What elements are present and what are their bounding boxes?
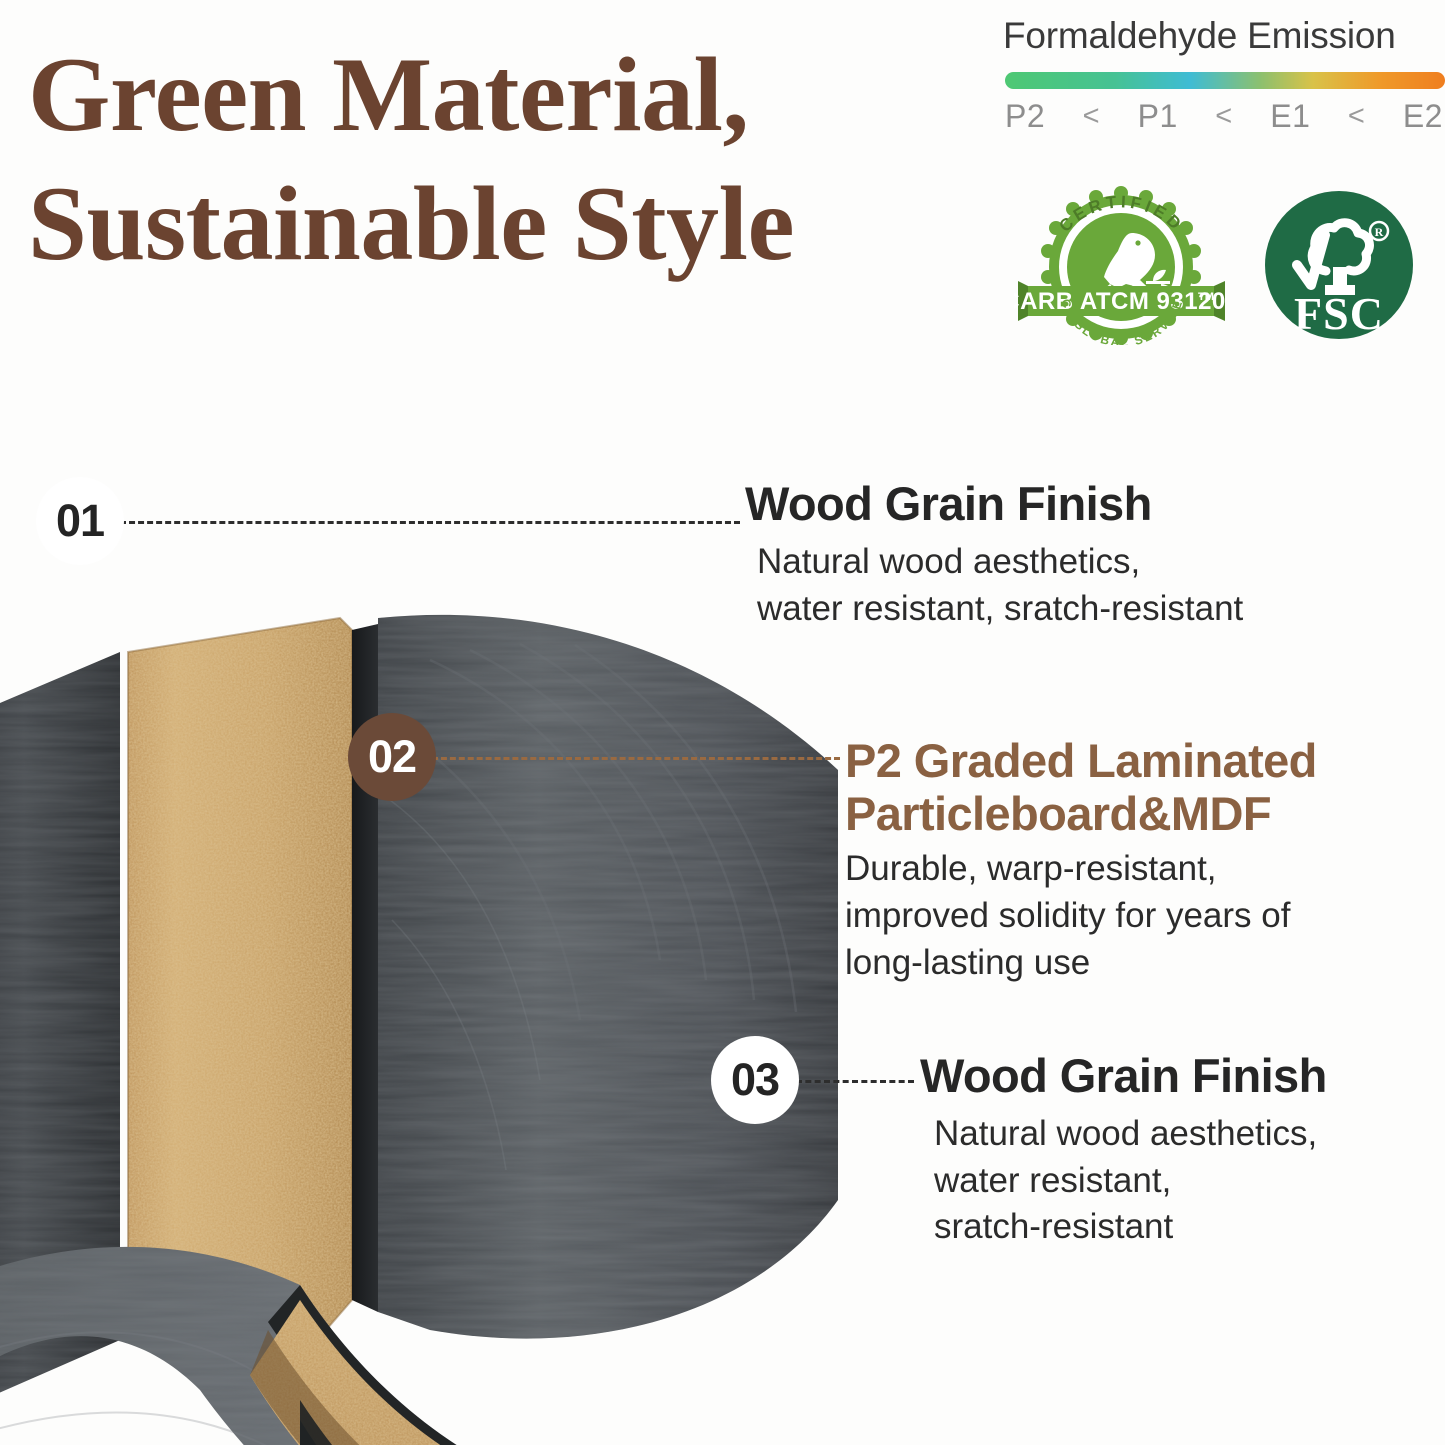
emission-title: Formaldehyde Emission	[993, 16, 1445, 57]
callout-03-body-line-2: water resistant,	[934, 1158, 1420, 1205]
callout-03: Wood Grain Finish Natural wood aesthetic…	[920, 1050, 1420, 1251]
formaldehyde-emission-panel: Formaldehyde Emission P2 < P1 < E1 < E2	[989, 16, 1445, 135]
callout-03-body: Natural wood aesthetics, water resistant…	[934, 1111, 1420, 1252]
fsc-registered-mark: R	[1375, 225, 1384, 239]
callout-02-body-line-1: Durable, warp-resistant,	[845, 846, 1425, 893]
callout-02-body-line-3: long-lasting use	[845, 940, 1425, 987]
callout-01-title: Wood Grain Finish	[745, 478, 1405, 531]
leader-line-02	[432, 757, 840, 760]
callout-badge-02: 02	[348, 713, 436, 801]
callout-02-body-line-2: improved solidity for years of	[845, 893, 1425, 940]
carb-certification-icon: CERTIFIED CARB A	[1014, 185, 1229, 345]
fsc-label: FSC	[1294, 288, 1384, 339]
carb-trademark-text: TM	[1198, 291, 1214, 303]
headline-line-1: Green Material,	[28, 30, 968, 159]
headline-line-2: Sustainable Style	[28, 159, 968, 288]
emission-separator-2: <	[1215, 100, 1232, 133]
fsc-certification-icon: R FSC	[1263, 189, 1415, 341]
product-cross-section-image	[0, 300, 840, 1445]
emission-separator-3: <	[1348, 100, 1365, 133]
callout-02-title: P2 Graded Laminated Particleboard&MDF	[845, 735, 1425, 840]
callout-badge-01: 01	[36, 477, 124, 565]
leader-line-01	[120, 521, 740, 524]
callout-03-title: Wood Grain Finish	[920, 1050, 1420, 1103]
infographic-page: Green Material, Sustainable Style Formal…	[0, 0, 1445, 1445]
callout-01-body-line-1: Natural wood aesthetics,	[757, 539, 1405, 586]
emission-scale: P2 < P1 < E1 < E2	[1005, 98, 1445, 135]
emission-separator-1: <	[1083, 100, 1100, 133]
callout-01-body: Natural wood aesthetics, water resistant…	[757, 539, 1405, 633]
callout-03-body-line-1: Natural wood aesthetics,	[934, 1111, 1420, 1158]
callout-03-body-line-3: sratch-resistant	[934, 1204, 1420, 1251]
callout-01-body-line-2: water resistant, sratch-resistant	[757, 586, 1405, 633]
emission-level-e1: E1	[1270, 98, 1310, 135]
certification-badges: CERTIFIED CARB A	[1015, 182, 1415, 347]
callout-badge-03: 03	[711, 1036, 799, 1124]
callout-02: P2 Graded Laminated Particleboard&MDF Du…	[845, 735, 1425, 987]
leader-line-03	[796, 1080, 914, 1083]
emission-gradient-bar	[1005, 72, 1445, 89]
callout-01: Wood Grain Finish Natural wood aesthetic…	[745, 478, 1405, 632]
emission-level-p2: P2	[1005, 98, 1045, 135]
emission-level-e2: E2	[1403, 98, 1443, 135]
page-headline: Green Material, Sustainable Style	[28, 30, 968, 289]
emission-level-p1: P1	[1138, 98, 1178, 135]
carb-banner-text: CARB ATCM 93120	[1014, 288, 1226, 315]
callout-02-body: Durable, warp-resistant, improved solidi…	[845, 846, 1425, 987]
